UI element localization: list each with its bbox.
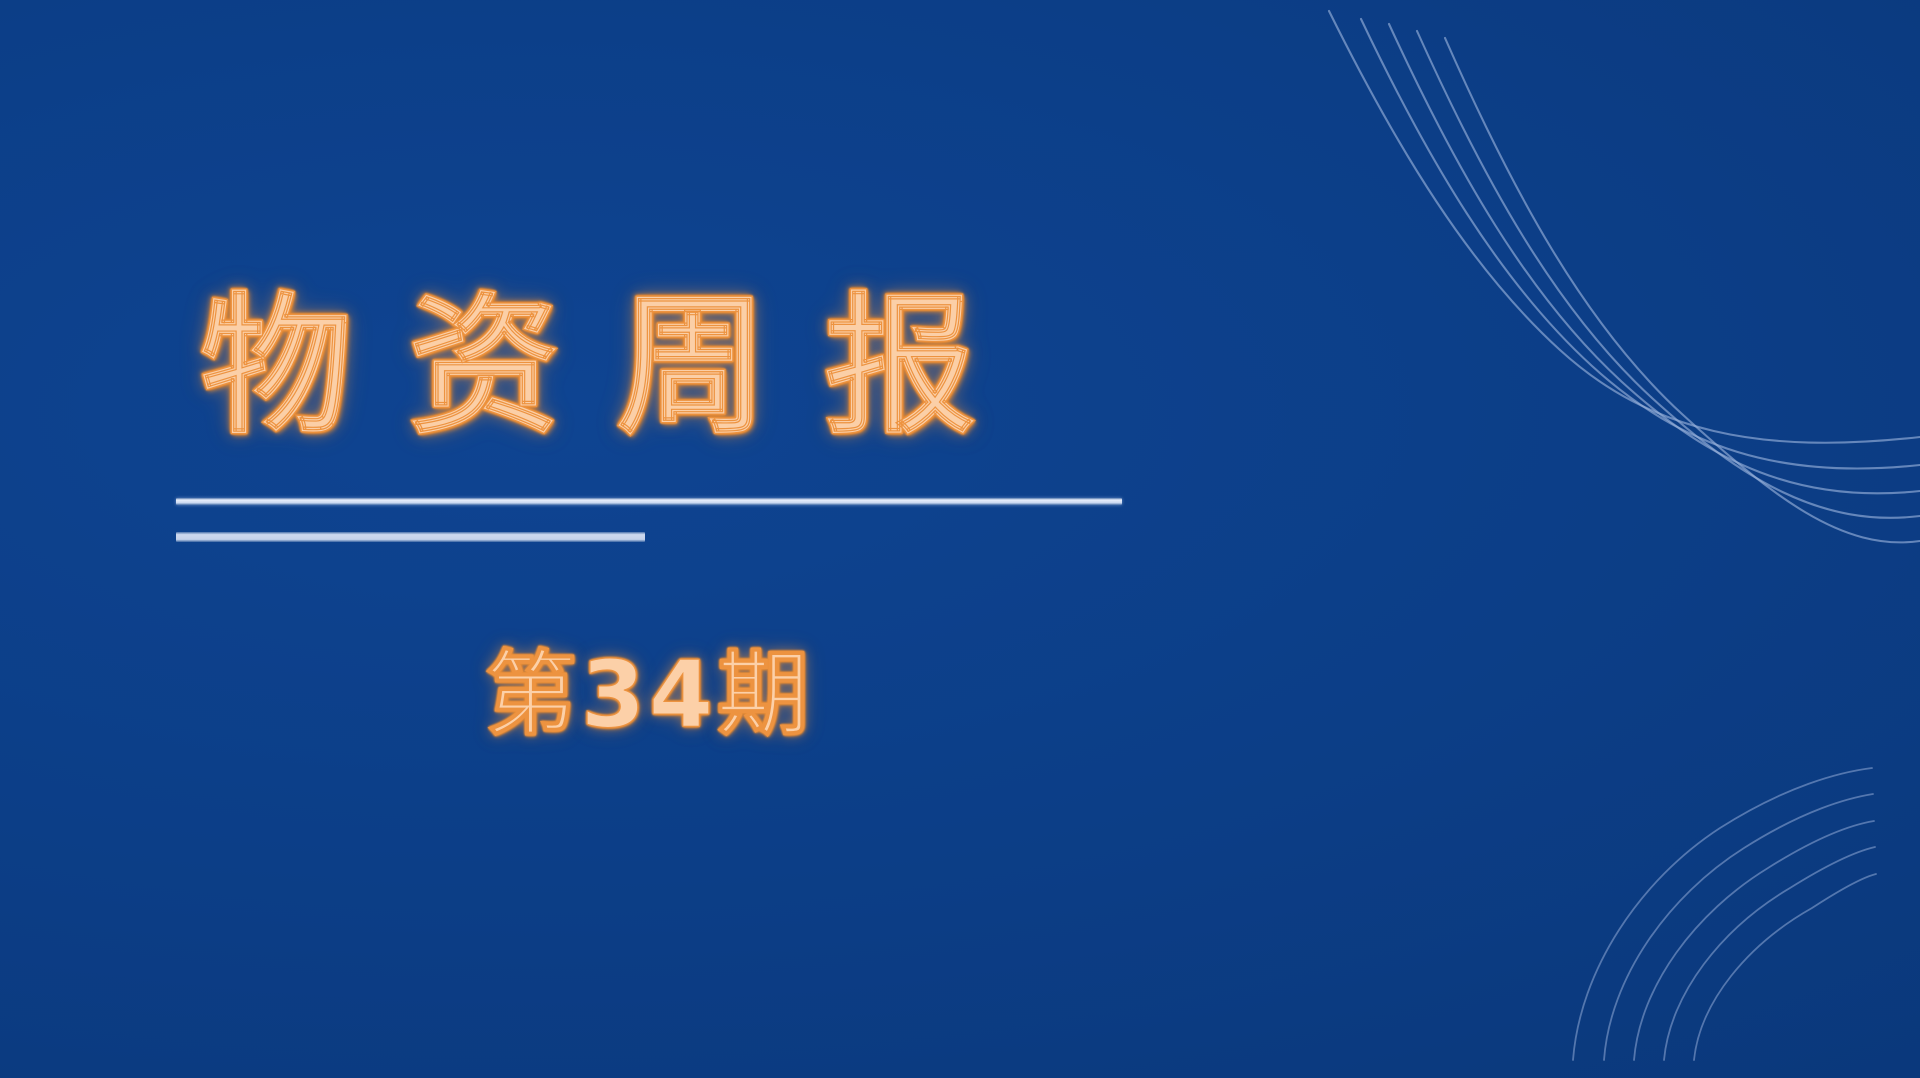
title-block: 物资周报	[176, 282, 1376, 452]
title-slide: 物资周报 第34期	[0, 0, 1920, 1078]
issue-subtitle: 第34期	[485, 640, 813, 750]
title-divider-short	[176, 532, 645, 542]
title-divider-long	[176, 498, 1122, 505]
page-title: 物资周报	[176, 282, 1376, 452]
subtitle-block: 第34期	[176, 640, 1122, 750]
divider-group	[176, 498, 1176, 542]
